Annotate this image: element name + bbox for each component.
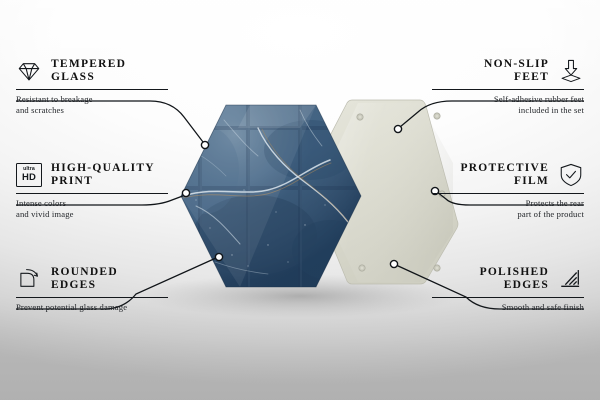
feature-title-line1: POLISHED (480, 266, 549, 279)
infographic-canvas: TEMPERED GLASS Resistant to breakage and… (0, 0, 600, 400)
feature-description: Prevent potential glass damage (16, 302, 168, 313)
feature-tempered-glass: TEMPERED GLASS Resistant to breakage and… (16, 58, 168, 117)
feature-divider (432, 297, 584, 298)
connector-dot-non-slip-feet (394, 125, 401, 132)
connector-dot-high-quality-print (182, 189, 189, 196)
rounded-corner-arrow-icon (16, 266, 42, 292)
desc-line1: Resistant to breakage (16, 94, 168, 105)
feature-non-slip-feet: NON-SLIP FEET Self-adhesive rubber feet … (432, 58, 584, 117)
feature-divider (16, 89, 168, 90)
press-down-pad-icon (558, 58, 584, 84)
feature-title-line2: GLASS (51, 71, 126, 84)
feature-rounded-edges: ROUNDED EDGES Prevent potential glass da… (16, 266, 168, 313)
desc-line2: and scratches (16, 105, 168, 116)
diamond-icon (16, 58, 42, 84)
ultra-hd-icon: ultra HD (16, 162, 42, 188)
desc-line2: and vivid image (16, 209, 168, 220)
feature-divider (16, 193, 168, 194)
desc-line1: Smooth and safe finish (432, 302, 584, 313)
desc-line1: Intense colors (16, 198, 168, 209)
desc-line1: Protects the rear (432, 198, 584, 209)
connector-dot-rounded-edges (215, 253, 222, 260)
feature-description: Intense colors and vivid image (16, 198, 168, 221)
feature-title-line2: FEET (484, 71, 549, 84)
feature-title-line1: TEMPERED (51, 58, 126, 71)
feature-description: Protects the rear part of the product (432, 198, 584, 221)
feature-title-line2: PRINT (51, 175, 155, 188)
feature-polished-edges: POLISHED EDGES Smooth and safe finish (432, 266, 584, 313)
feature-title-line2: FILM (460, 175, 549, 188)
feature-title-line1: PROTECTIVE (460, 162, 549, 175)
desc-line2: included in the set (432, 105, 584, 116)
feature-description: Resistant to breakage and scratches (16, 94, 168, 117)
feature-title-line1: HIGH-QUALITY (51, 162, 155, 175)
desc-line2: part of the product (432, 209, 584, 220)
feature-title-line2: EDGES (51, 279, 118, 292)
feature-protective-film: PROTECTIVE FILM Protects the rear part o… (432, 162, 584, 221)
shield-check-icon (558, 162, 584, 188)
connector-dot-tempered-glass (201, 141, 208, 148)
desc-line1: Self-adhesive rubber feet (432, 94, 584, 105)
ultra-hd-big-label: HD (22, 173, 36, 183)
diagonal-hatch-icon (558, 266, 584, 292)
feature-title-line2: EDGES (480, 279, 549, 292)
feature-divider (16, 297, 168, 298)
feature-title-line1: NON-SLIP (484, 58, 549, 71)
feature-divider (432, 193, 584, 194)
desc-line1: Prevent potential glass damage (16, 302, 168, 313)
connector-dot-polished-edges (390, 260, 397, 267)
feature-description: Smooth and safe finish (432, 302, 584, 313)
feature-description: Self-adhesive rubber feet included in th… (432, 94, 584, 117)
feature-title-line1: ROUNDED (51, 266, 118, 279)
feature-high-quality-print: ultra HD HIGH-QUALITY PRINT Intense colo… (16, 162, 168, 221)
feature-divider (432, 89, 584, 90)
